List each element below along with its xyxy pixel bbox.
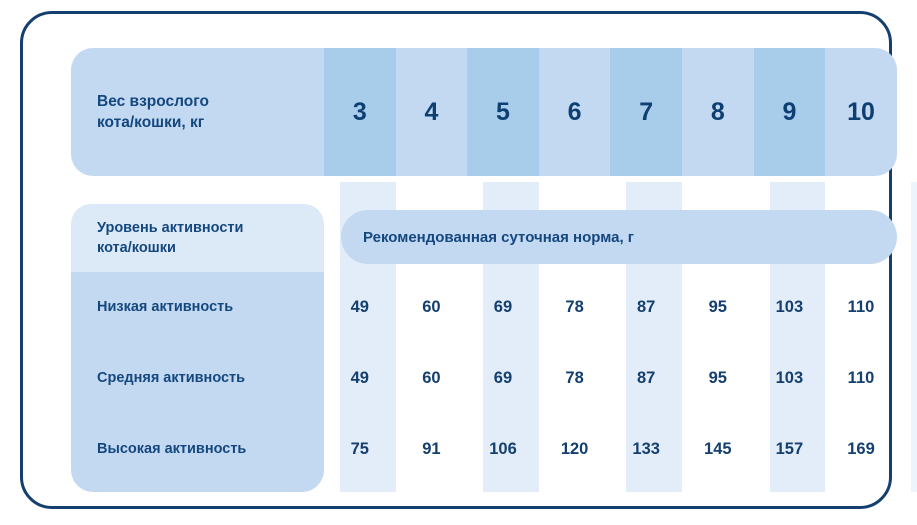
weight-header-label: Вес взрослого кота/кошки, кг <box>71 48 324 176</box>
daily-norm-banner: Рекомендованная суточная норма, г <box>341 210 897 264</box>
daily-norm-value: 49 <box>324 366 396 390</box>
activity-row-label: Низкая активность <box>97 295 233 319</box>
weight-column-header: 3 <box>324 48 396 176</box>
weight-column-header: 8 <box>682 48 754 176</box>
feeding-table: Вес взрослого кота/кошки, кг 345678910 У… <box>23 14 889 506</box>
daily-norm-value: 69 <box>467 366 539 390</box>
daily-norm-value: 120 <box>539 437 611 461</box>
daily-norm-value: 106 <box>467 437 539 461</box>
weight-column-header: 9 <box>754 48 826 176</box>
daily-norm-value: 87 <box>610 295 682 319</box>
weight-header-line-2: кота/кошки, кг <box>97 112 324 133</box>
weight-header-line-1: Вес взрослого <box>97 91 324 112</box>
daily-norm-value: 60 <box>396 295 468 319</box>
daily-norm-value: 110 <box>825 295 897 319</box>
daily-norm-value: 103 <box>754 295 826 319</box>
activity-header-line-2: кота/кошки <box>97 238 324 258</box>
daily-norm-value: 69 <box>467 295 539 319</box>
activity-row-label: Средняя активность <box>97 366 245 390</box>
daily-norm-value: 49 <box>324 295 396 319</box>
daily-norm-value: 87 <box>610 366 682 390</box>
daily-norm-value: 157 <box>754 437 826 461</box>
weight-column-header: 4 <box>396 48 468 176</box>
weight-column-header: 6 <box>539 48 611 176</box>
feeding-guide-card: Вес взрослого кота/кошки, кг 345678910 У… <box>20 11 892 509</box>
daily-norm-value: 145 <box>682 437 754 461</box>
activity-header-label: Уровень активности кота/кошки <box>71 204 324 272</box>
daily-norm-value: 169 <box>825 437 897 461</box>
daily-norm-value: 103 <box>754 366 826 390</box>
daily-norm-value: 75 <box>324 437 396 461</box>
daily-norm-value: 78 <box>539 295 611 319</box>
column-stripe-trailing <box>911 182 917 492</box>
daily-norm-value: 78 <box>539 366 611 390</box>
daily-norm-value: 91 <box>396 437 468 461</box>
daily-norm-value: 95 <box>682 295 754 319</box>
daily-norm-value: 95 <box>682 366 754 390</box>
activity-row-label: Высокая активность <box>97 437 246 461</box>
daily-norm-value: 110 <box>825 366 897 390</box>
daily-norm-value: 60 <box>396 366 468 390</box>
weight-column-header: 7 <box>610 48 682 176</box>
weight-column-header: 10 <box>825 48 897 176</box>
activity-header-line-1: Уровень активности <box>97 218 324 238</box>
weight-column-header: 5 <box>467 48 539 176</box>
daily-norm-value: 133 <box>610 437 682 461</box>
